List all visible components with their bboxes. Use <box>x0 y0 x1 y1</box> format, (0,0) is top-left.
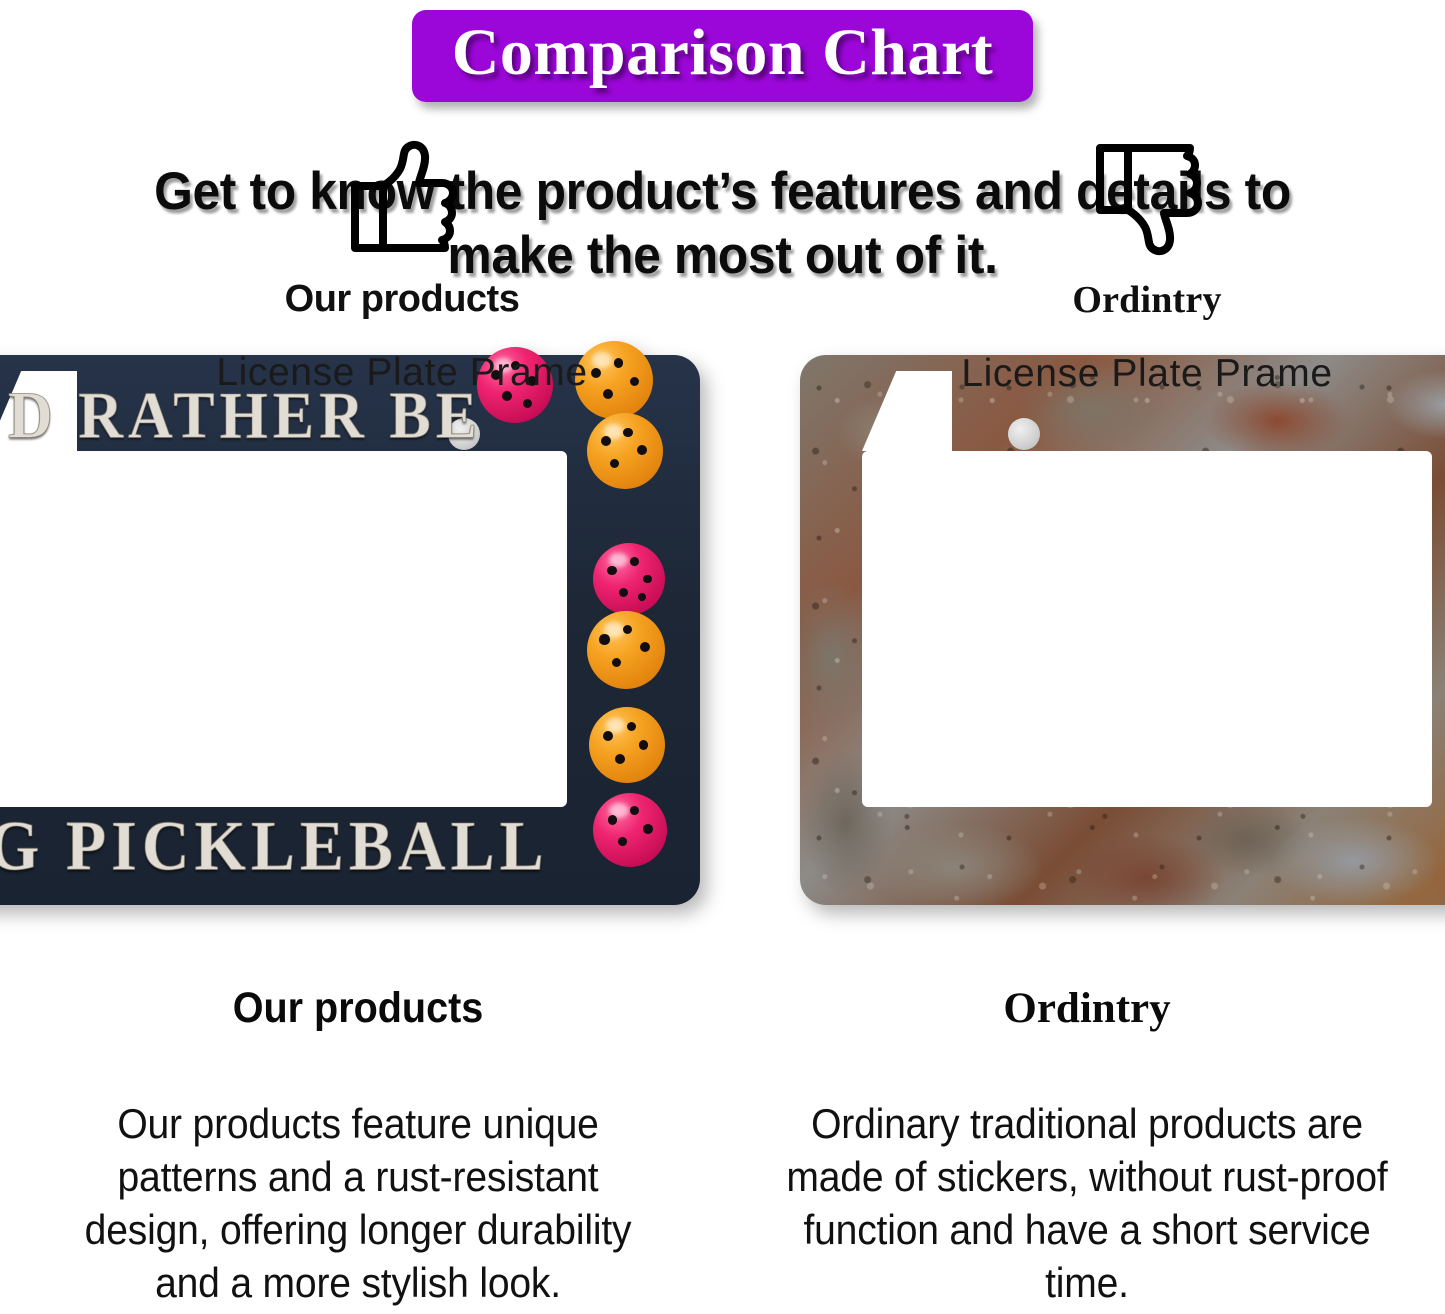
pickleball-orange-4 <box>589 707 665 783</box>
our-product-description: Our products feature unique patterns and… <box>25 1098 691 1310</box>
thumbs-up-icon <box>342 140 462 256</box>
our-product-column: Our products Our products feature unique… <box>0 985 716 1310</box>
our-plate-bottom-text: G PICKLEBALL <box>0 806 549 888</box>
pickleball-pink-3 <box>593 793 667 867</box>
ordinary-plate-window <box>862 451 1432 807</box>
ordinary-plate-label: Ordintry <box>862 278 1432 322</box>
ordinary-frame-screw-hole <box>1008 418 1040 450</box>
ordinary-plate-sublabel: License Plate Prame <box>862 352 1432 396</box>
ordinary-product-heading: Ordintry <box>729 985 1445 1032</box>
our-product-heading: Our products <box>29 985 688 1032</box>
our-plate-label: Our products <box>112 278 692 321</box>
pickleball-orange-2 <box>587 413 663 489</box>
pickleball-orange-3 <box>587 611 665 689</box>
ordinary-plate-content: Ordintry License Plate Prame <box>862 96 1432 396</box>
comparison-chart-page: Comparison Chart Get to know the product… <box>0 0 1445 1314</box>
thumbs-down-icon <box>1087 140 1207 256</box>
pickleball-pink-2 <box>593 543 665 615</box>
our-plate-sublabel: License Plate Prame <box>112 351 692 395</box>
our-plate-content: Our products License Plate Prame <box>112 96 692 395</box>
ordinary-product-frame <box>800 355 1445 905</box>
ordinary-product-description: Ordinary traditional products are made o… <box>754 1098 1420 1310</box>
our-plate-window <box>0 451 567 807</box>
ordinary-product-column: Ordintry Ordinary traditional products a… <box>729 985 1445 1310</box>
